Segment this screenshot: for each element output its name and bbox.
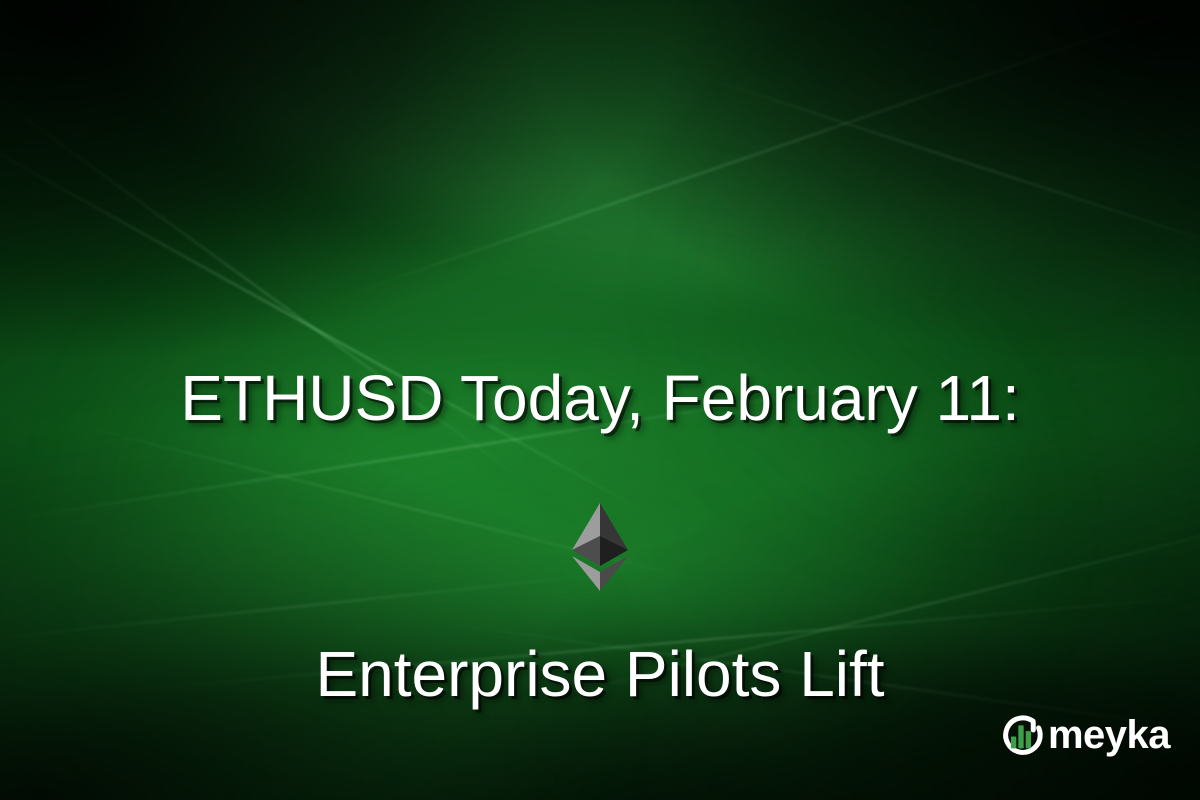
- meyka-bar-2: [1018, 725, 1023, 748]
- cover-headline: ETHUSD Today, February 11: Enterprise Pi…: [0, 168, 1200, 800]
- meyka-brand-lockup[interactable]: meyka: [998, 712, 1170, 758]
- meyka-bar-1: [1011, 736, 1016, 748]
- meyka-bar-3: [1026, 731, 1031, 748]
- meyka-wordmark: meyka: [1048, 715, 1170, 755]
- headline-line-2: Enterprise Pilots Lift: [0, 628, 1200, 720]
- headline-line-1: ETHUSD Today, February 11:: [0, 352, 1200, 444]
- ethereum-logo-icon: [572, 503, 628, 591]
- meyka-logo-icon: [998, 712, 1044, 758]
- article-cover-image: ETHUSD Today, February 11: Enterprise Pi…: [0, 0, 1200, 800]
